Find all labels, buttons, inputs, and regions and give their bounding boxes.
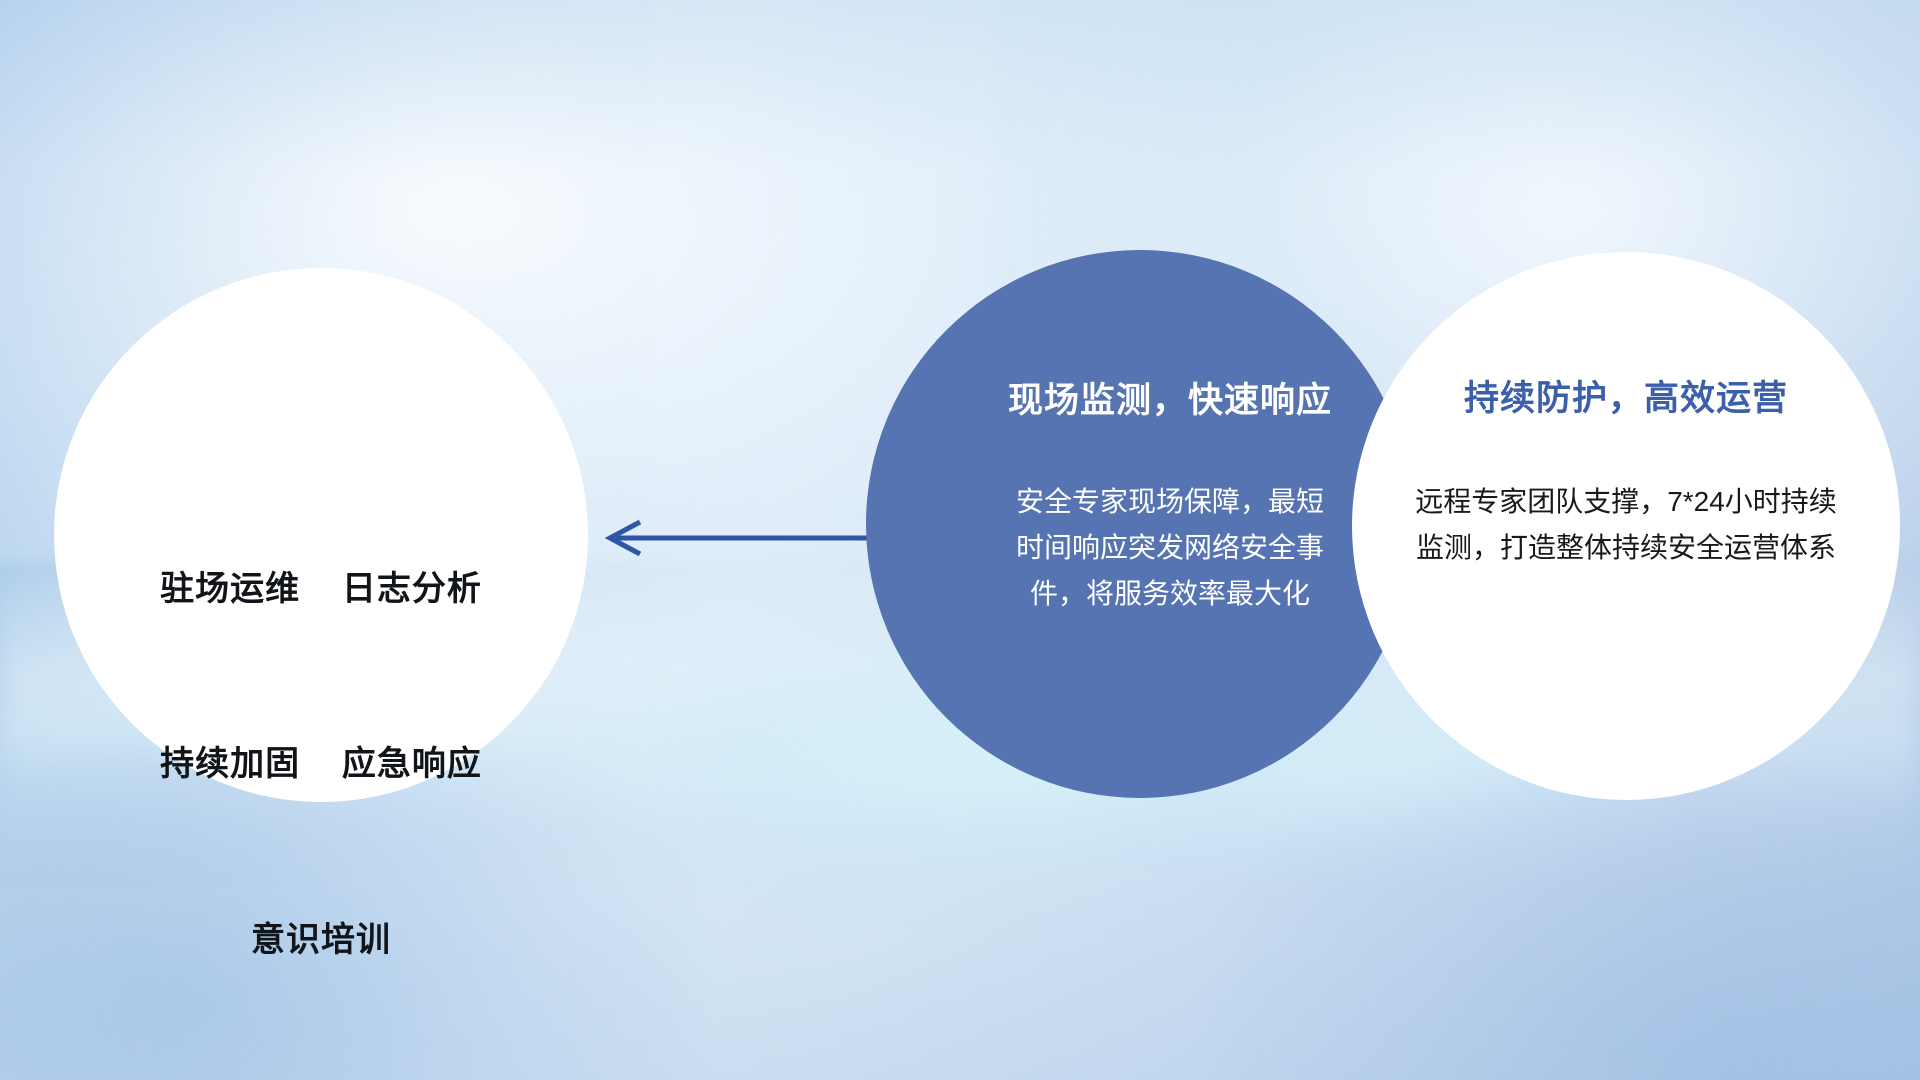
middle-circle-title: 现场监测，快速响应 xyxy=(1008,372,1332,423)
right-circle-title: 持续防护，高效运营 xyxy=(1464,370,1788,421)
right-circle-body: 远程专家团队支撑，7*24小时持续监测，打造整体持续安全运营体系 xyxy=(1407,479,1845,572)
middle-circle-content: 现场监测，快速响应 安全专家现场保障，最短时间响应突发网络安全事件，将服务效率最… xyxy=(866,250,1414,798)
middle-circle-body: 安全专家现场保障，最短时间响应突发网络安全事件，将服务效率最大化 xyxy=(1006,479,1334,617)
flow-arrow-icon xyxy=(600,520,870,556)
left-circle-keywords: 驻场运维 日志分析 持续加固 应急响应 意识培训 xyxy=(160,443,482,1080)
left-keyword-row-2: 持续加固 应急响应 xyxy=(160,735,482,793)
left-keyword-row-3: 意识培训 xyxy=(160,911,482,969)
left-circle-content: 驻场运维 日志分析 持续加固 应急响应 意识培训 xyxy=(54,268,588,802)
right-circle-content: 持续防护，高效运营 远程专家团队支撑，7*24小时持续监测，打造整体持续安全运营… xyxy=(1352,252,1900,800)
slide-canvas: 驻场运维 日志分析 持续加固 应急响应 意识培训 现场监测，快速响应 安全专家现… xyxy=(0,0,1920,1080)
left-keyword-row-1: 驻场运维 日志分析 xyxy=(160,560,482,618)
